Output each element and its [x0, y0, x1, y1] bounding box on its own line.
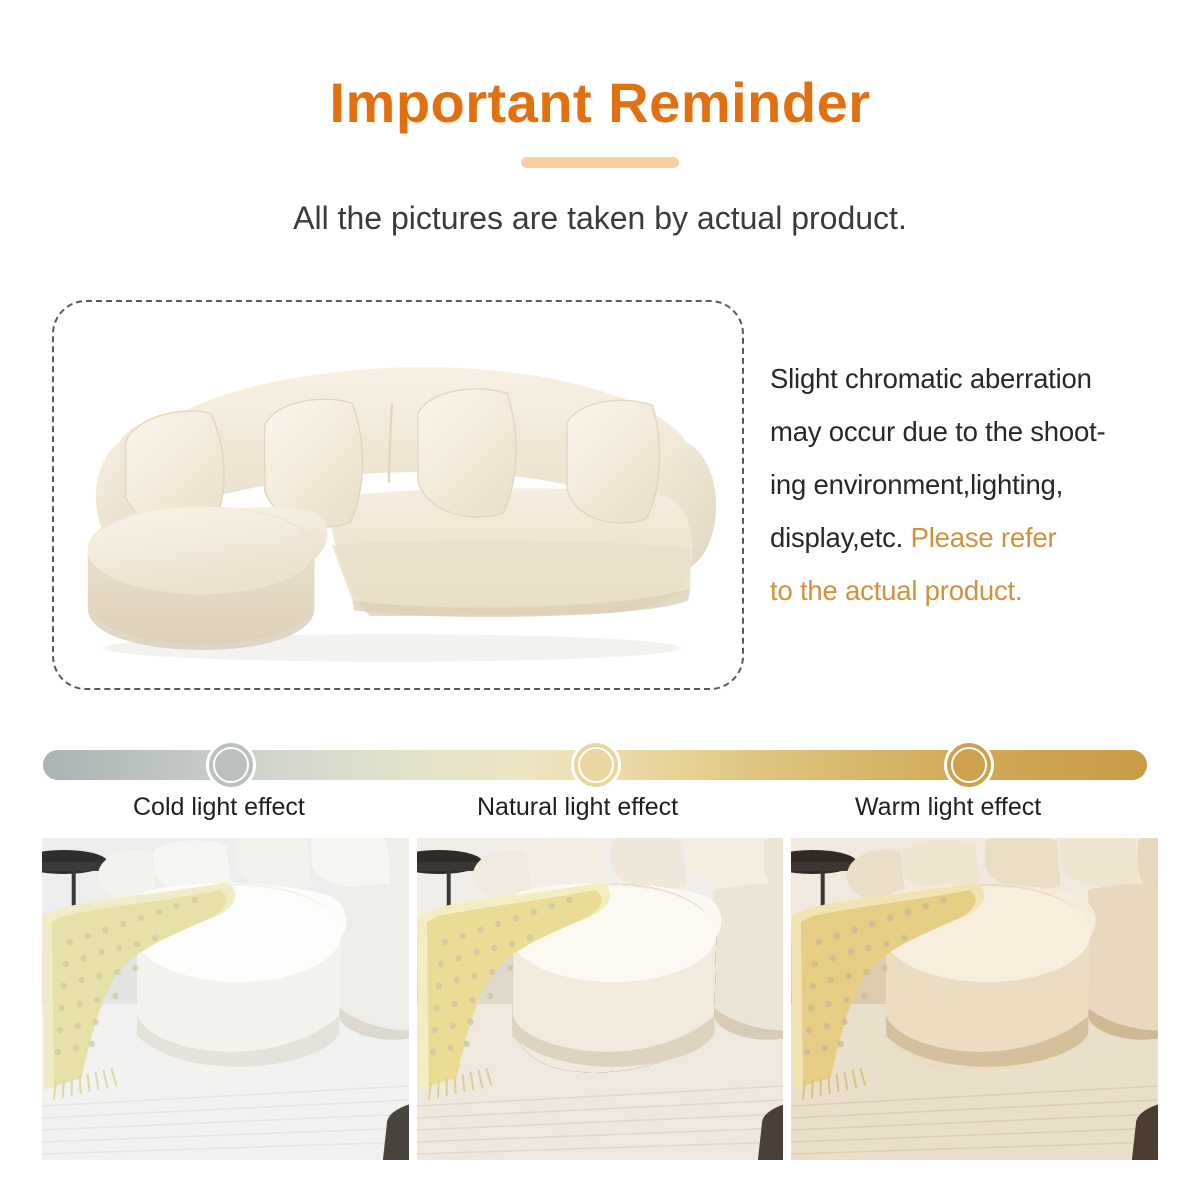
label-cold-light: Cold light effect [133, 793, 305, 822]
page-title: Important Reminder [0, 70, 1200, 135]
note-line-1: Slight chromatic aberration [770, 352, 1170, 405]
note-line-4-plain: display,etc. [770, 522, 911, 553]
note-line-4: display,etc. Please refer [770, 511, 1170, 564]
photo-warm-light[interactable] [791, 838, 1158, 1160]
marker-natural-light[interactable] [571, 740, 621, 790]
marker-cold-light[interactable] [206, 740, 256, 790]
light-temperature-labels: Cold light effect Natural light effect W… [43, 793, 1147, 827]
sofa-illustration [54, 302, 742, 688]
note-line-3: ing environment,lighting, [770, 458, 1170, 511]
chromatic-aberration-note: Slight chromatic aberration may occur du… [770, 352, 1170, 617]
actual-product-panel [52, 300, 744, 690]
page-subtitle: All the pictures are taken by actual pro… [0, 200, 1200, 237]
marker-warm-light[interactable] [944, 740, 994, 790]
label-natural-light: Natural light effect [477, 793, 678, 822]
note-line-4-accent: Please refer [911, 522, 1057, 553]
label-warm-light: Warm light effect [855, 793, 1041, 822]
title-underline-bar [521, 157, 679, 168]
photo-cold-light[interactable] [42, 838, 409, 1160]
photo-natural-light[interactable] [417, 838, 784, 1160]
note-line-5-accent: to the actual product. [770, 564, 1170, 617]
note-line-2: may occur due to the shoot- [770, 405, 1170, 458]
reminder-page: Important Reminder All the pictures are … [0, 0, 1200, 1200]
light-effect-photo-strip [42, 838, 1158, 1160]
